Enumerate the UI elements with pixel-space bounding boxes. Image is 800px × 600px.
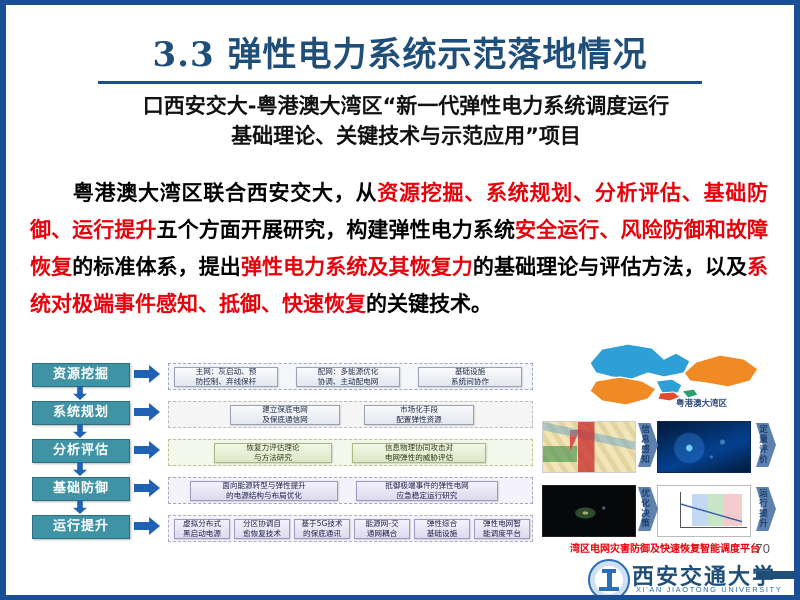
cell-line-1: 信息物理协同攻击对 [385,443,453,453]
cell-line-1: 恢复力评估理论 [246,443,299,453]
workpackage-cell-5-3[interactable]: 基于5G技术的保底通讯 [294,519,350,539]
stage-box-2[interactable]: 系统规划 [32,401,130,425]
map-caption: 粤港澳大湾区 [676,397,727,409]
cell-line-1: 基础设施 [451,367,489,377]
cell-line-1: 弹性电网智 [483,519,521,529]
slide-canvas: 3.3 弹性电力系统示范落地情况 口西安交大-粤港澳大湾区“新一代弹性电力系统调… [6,5,794,595]
cell-line-1: 弹性综合 [427,519,457,529]
title-divider [98,81,702,84]
cell-line-1: 建立保底电网 [262,405,308,415]
cell-line-2: 电网弹性的威胁评估 [385,453,453,463]
body-paragraph: 粤港澳大湾区联合西安交大，从资源挖掘、系统规划、分析评估、基础防御、运行提升五个… [30,175,768,323]
map-svg [544,335,784,415]
workpackage-cell-5-2[interactable]: 分区协调自愈恢复技术 [234,519,290,539]
page-title: 3.3 弹性电力系统示范落地情况 [6,27,794,76]
cell-line-1: 市场化手段 [396,405,442,415]
cell-line-2: 能调度平台 [483,529,521,539]
university-logo: 西安交通大学 XI'AN JIAOTONG UNIVERSITY [588,557,800,600]
cell-line-1: 分区协调自 [243,519,281,529]
stage-arrow-down-3 [73,462,87,476]
stage-column: 资源挖掘系统规划分析评估基础防御运行提升 [28,363,130,559]
cell-line-1: 配网：多能源优化 [318,367,379,377]
platform-caption: 湾区电网灾害防御及快速恢复智能调度平台 [540,540,790,555]
arrow-label-3: 优化决策 [639,489,652,529]
stage-arrow-down-1 [73,386,87,400]
page-number: 70 [756,541,770,556]
university-seal-icon [588,559,630,600]
stage-box-4[interactable]: 基础防御 [32,477,130,501]
phase-chart-image [657,485,751,537]
cell-line-1: 虚拟分布式 [183,519,221,529]
paragraph-segment-5: 弹性电力系统及其恢复力 [241,255,473,279]
night-grid-image [542,485,636,537]
cell-line-2: 愈恢复技术 [243,529,281,539]
workpackage-cell-5-5[interactable]: 弹性综合基础设施 [414,519,470,539]
cell-line-2: 协调、主动配电网 [318,377,379,387]
stage-arrow-right-3 [134,441,160,459]
paragraph-segment-2: 五个方面开展研究，构建弹性电力系统 [157,218,516,242]
stage-box-3[interactable]: 分析评估 [32,439,130,463]
paragraph-segment-8: 的关键技术。 [366,292,492,316]
cell-line-2: 的电源结构与布局优化 [222,491,306,501]
workpackage-cell-3-1[interactable]: 恢复力评估理论与方法研究 [214,443,332,463]
arrow-label-4: 运行提升 [757,489,770,529]
logo-english-name: XI'AN JIAOTONG UNIVERSITY [636,585,782,594]
workpackage-cell-5-6[interactable]: 弹性电网智能调度平台 [474,519,530,539]
cell-line-1: 抵御极端事件的弹性电网 [385,481,469,491]
workpackage-cell-1-1[interactable]: 主网：灰启动、预防控制、弃线保杆 [174,367,278,387]
stage-box-1[interactable]: 资源挖掘 [32,363,130,387]
project-subtitle: 口西安交大-粤港澳大湾区“新一代弹性电力系统调度运行 基础理论、关键技术与示范应… [66,91,746,151]
cell-line-1: 主网：灰启动、预 [196,367,257,377]
cell-line-2: 与方法研究 [246,453,299,463]
cell-line-2: 及保底通信网 [262,415,308,425]
paragraph-segment-4: 的标准体系，提出 [72,255,241,279]
stage-arrow-down-2 [73,424,87,438]
workpackage-cell-2-2[interactable]: 市场化手段配置弹性资源 [364,405,474,425]
arrow-label-1: 信息感知 [639,425,652,465]
cell-line-2: 基础设施 [427,529,457,539]
workpackage-cell-4-1[interactable]: 面向能源转型与弹性提升的电源结构与布局优化 [190,481,338,501]
cell-line-2: 配置弹性资源 [396,415,442,425]
workpackage-cell-5-1[interactable]: 虚拟分布式黑启动电源 [174,519,230,539]
logo-accent-bar [756,571,800,579]
city-plan-image [542,421,636,473]
cell-line-1: 能源网-交 [365,519,398,529]
workpackage-cell-3-2[interactable]: 信息物理协同攻击对电网弹性的威胁评估 [352,443,486,463]
illustration-panel: 粤港澳大湾区 信息感知 定量评价 优化决策 运行提升 湾区电网灾害防御及快速恢复 [534,335,796,565]
stage-arrow-right-1 [134,365,160,383]
slide-root: 3.3 弹性电力系统示范落地情况 口西安交大-粤港澳大湾区“新一代弹性电力系统调… [0,0,800,600]
cell-line-2: 应急稳定运行研究 [385,491,469,501]
cell-line-2: 防控制、弃线保杆 [196,377,257,387]
paragraph-segment-0: 粤港澳大湾区联合西安交大，从 [72,181,377,205]
stage-arrow-down-4 [73,500,87,514]
workpackage-cell-5-4[interactable]: 能源网-交通网耦合 [354,519,410,539]
stage-arrow-right-4 [134,479,160,497]
subtitle-line-2: 基础理论、关键技术与示范应用”项目 [66,121,746,151]
cell-line-1: 面向能源转型与弹性提升 [222,481,306,491]
cell-line-1: 基于5G技术 [301,519,342,529]
greater-bay-area-map: 粤港澳大湾区 [544,335,784,415]
ai-network-image [657,421,751,473]
workpackage-cell-1-2[interactable]: 配网：多能源优化协调、主动配电网 [296,367,400,387]
roadmap-diagram: 资源挖掘系统规划分析评估基础防御运行提升 主网：灰启动、预防控制、弃线保杆配网：… [28,363,533,559]
arrow-label-2: 定量评价 [757,425,770,465]
workpackage-row-2 [168,401,533,428]
workpackage-cell-4-2[interactable]: 抵御极端事件的弹性电网应急稳定运行研究 [356,481,498,501]
stage-arrow-right-5 [134,517,160,535]
stage-arrow-right-2 [134,403,160,421]
cell-line-2: 黑启动电源 [183,529,221,539]
workpackage-cell-2-1[interactable]: 建立保底电网及保底通信网 [230,405,340,425]
chart-curve [680,496,742,530]
cell-line-2: 系统间协作 [451,377,489,387]
cell-line-2: 的保底通讯 [301,529,342,539]
cell-line-2: 通网耦合 [365,529,398,539]
workpackage-cell-1-3[interactable]: 基础设施系统间协作 [418,367,522,387]
stage-box-5[interactable]: 运行提升 [32,515,130,539]
subtitle-line-1: 口西安交大-粤港澳大湾区“新一代弹性电力系统调度运行 [66,91,746,121]
paragraph-segment-6: 的基础理论与评估方法，以及 [473,255,747,279]
